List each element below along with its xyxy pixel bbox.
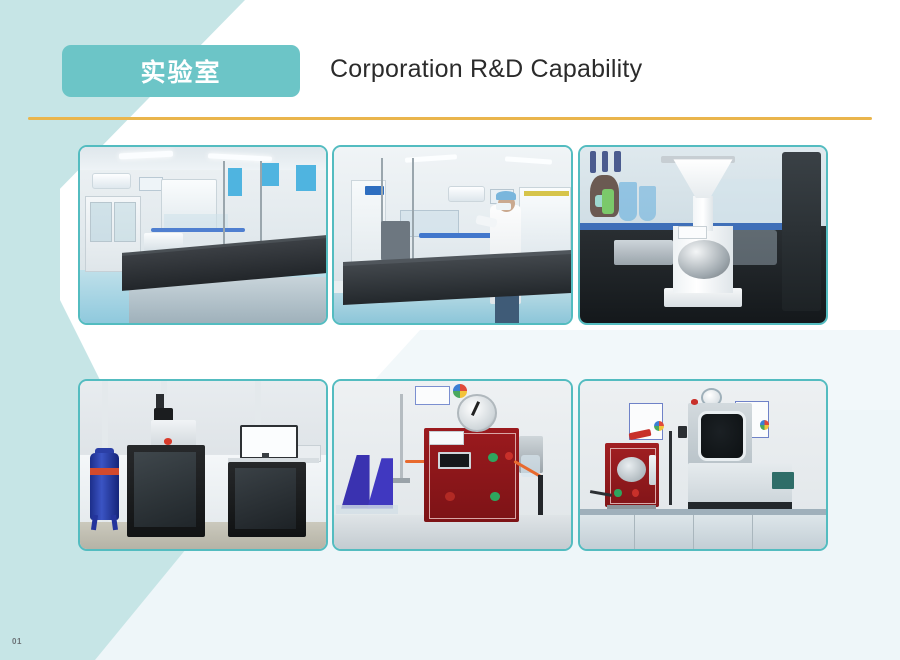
gallery-photo-5-scene xyxy=(334,381,571,549)
gallery-photo-3[interactable] xyxy=(578,145,828,325)
gallery-photo-1[interactable] xyxy=(78,145,328,325)
page-number: 01 xyxy=(12,637,22,646)
photo-gallery xyxy=(0,0,900,660)
gallery-photo-5[interactable] xyxy=(332,379,573,551)
gallery-photo-6-scene xyxy=(580,381,826,549)
gallery-photo-4-scene xyxy=(80,381,326,549)
slide-page: 实验室 Corporation R&D Capability xyxy=(0,0,900,660)
gallery-photo-2[interactable] xyxy=(332,145,573,325)
gallery-photo-1-scene xyxy=(80,147,326,323)
gallery-photo-2-scene xyxy=(334,147,571,323)
gallery-photo-3-scene xyxy=(580,147,826,323)
gallery-photo-6[interactable] xyxy=(578,379,828,551)
gallery-photo-4[interactable] xyxy=(78,379,328,551)
